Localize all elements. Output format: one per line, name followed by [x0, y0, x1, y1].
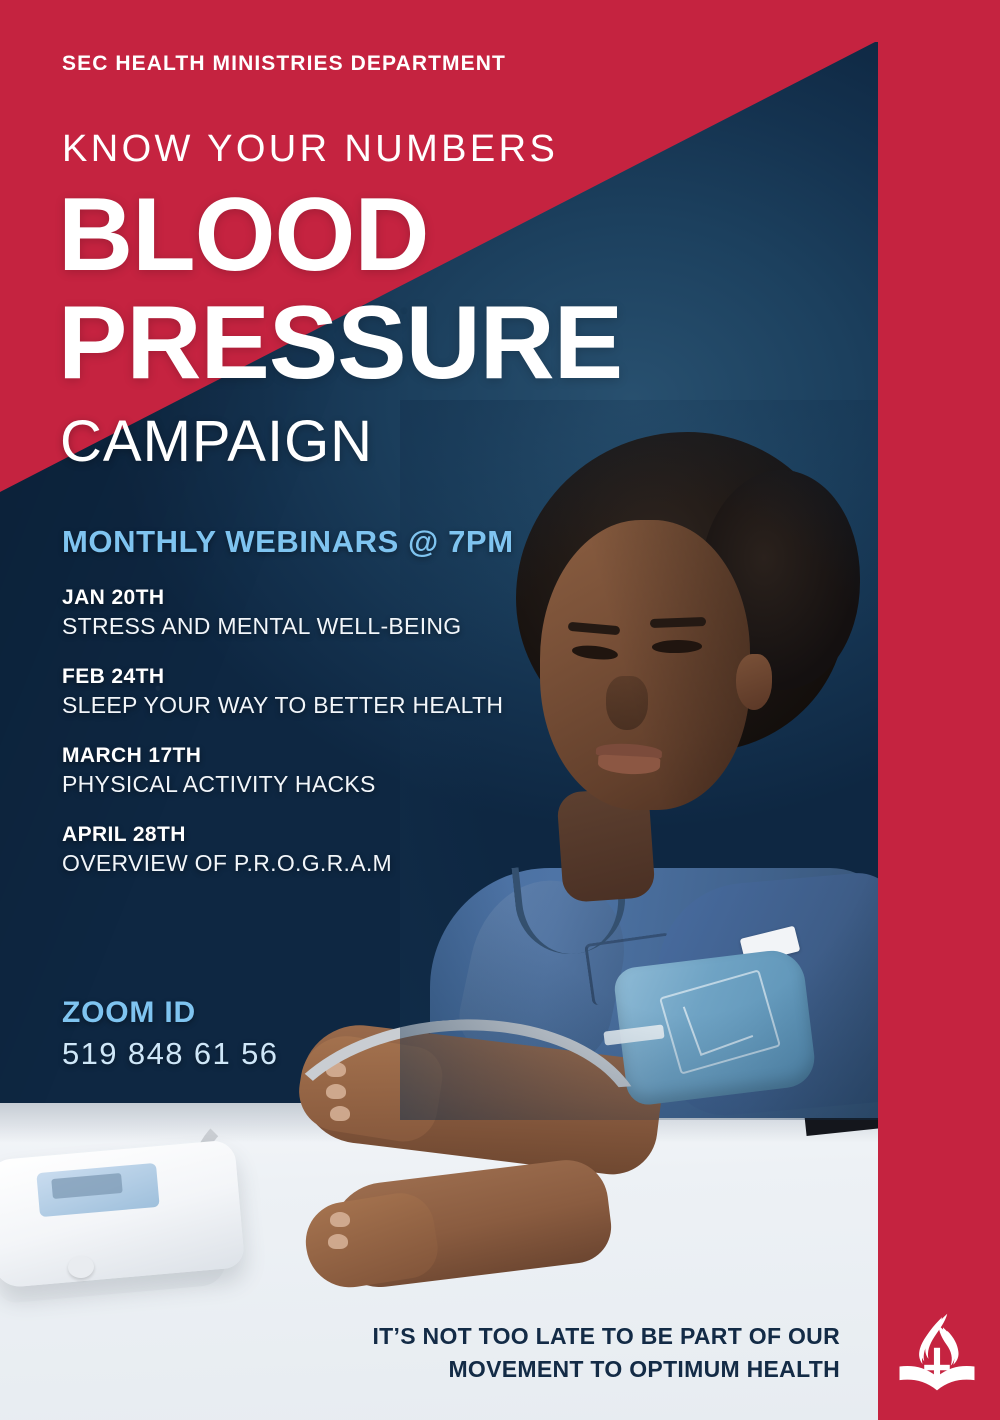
list-item: APRIL 28TH OVERVIEW OF P.R.O.G.R.A.M — [62, 823, 582, 877]
webinar-date: MARCH 17TH — [62, 744, 582, 768]
webinar-date: FEB 24TH — [62, 665, 582, 689]
webinar-topic: OVERVIEW OF P.R.O.G.R.A.M — [62, 850, 582, 877]
footer-tagline-line2: MOVEMENT TO OPTIMUM HEALTH — [280, 1353, 840, 1386]
webinar-date: APRIL 28TH — [62, 823, 582, 847]
fingernail — [330, 1212, 350, 1227]
webinar-topic: STRESS AND MENTAL WELL-BEING — [62, 613, 582, 640]
page-title-line2: PRESSURE — [58, 294, 622, 394]
department-label: SEC HEALTH MINISTRIES DEPARTMENT — [62, 52, 506, 76]
kicker-text: KNOW YOUR NUMBERS — [62, 128, 558, 171]
ear — [736, 654, 772, 710]
list-item: MARCH 17TH PHYSICAL ACTIVITY HACKS — [62, 744, 582, 798]
list-item: JAN 20TH STRESS AND MENTAL WELL-BEING — [62, 586, 582, 640]
footer-tagline: IT’S NOT TOO LATE TO BE PART OF OUR MOVE… — [280, 1320, 840, 1385]
webinar-date: JAN 20TH — [62, 586, 582, 610]
webinar-schedule-list: JAN 20TH STRESS AND MENTAL WELL-BEING FE… — [62, 586, 582, 902]
list-item: FEB 24TH SLEEP YOUR WAY TO BETTER HEALTH — [62, 665, 582, 719]
webinar-topic: SLEEP YOUR WAY TO BETTER HEALTH — [62, 692, 582, 719]
bp-monitor-device — [0, 1139, 245, 1288]
poster: SEC HEALTH MINISTRIES DEPARTMENT KNOW YO… — [0, 0, 1000, 1420]
webinar-topic: PHYSICAL ACTIVITY HACKS — [62, 771, 582, 798]
right-red-margin — [878, 0, 1000, 1420]
zoom-id-label: ZOOM ID — [62, 996, 196, 1030]
seventh-day-adventist-logo-icon — [894, 1312, 980, 1404]
zoom-id-value: 519 848 61 56 — [62, 1036, 278, 1072]
page-subtitle: CAMPAIGN — [60, 408, 373, 475]
footer-tagline-line1: IT’S NOT TOO LATE TO BE PART OF OUR — [280, 1320, 840, 1353]
fingernail — [328, 1234, 348, 1249]
nose — [606, 676, 648, 730]
webinars-heading: MONTHLY WEBINARS @ 7PM — [62, 524, 514, 560]
page-title-line1: BLOOD — [58, 186, 429, 286]
